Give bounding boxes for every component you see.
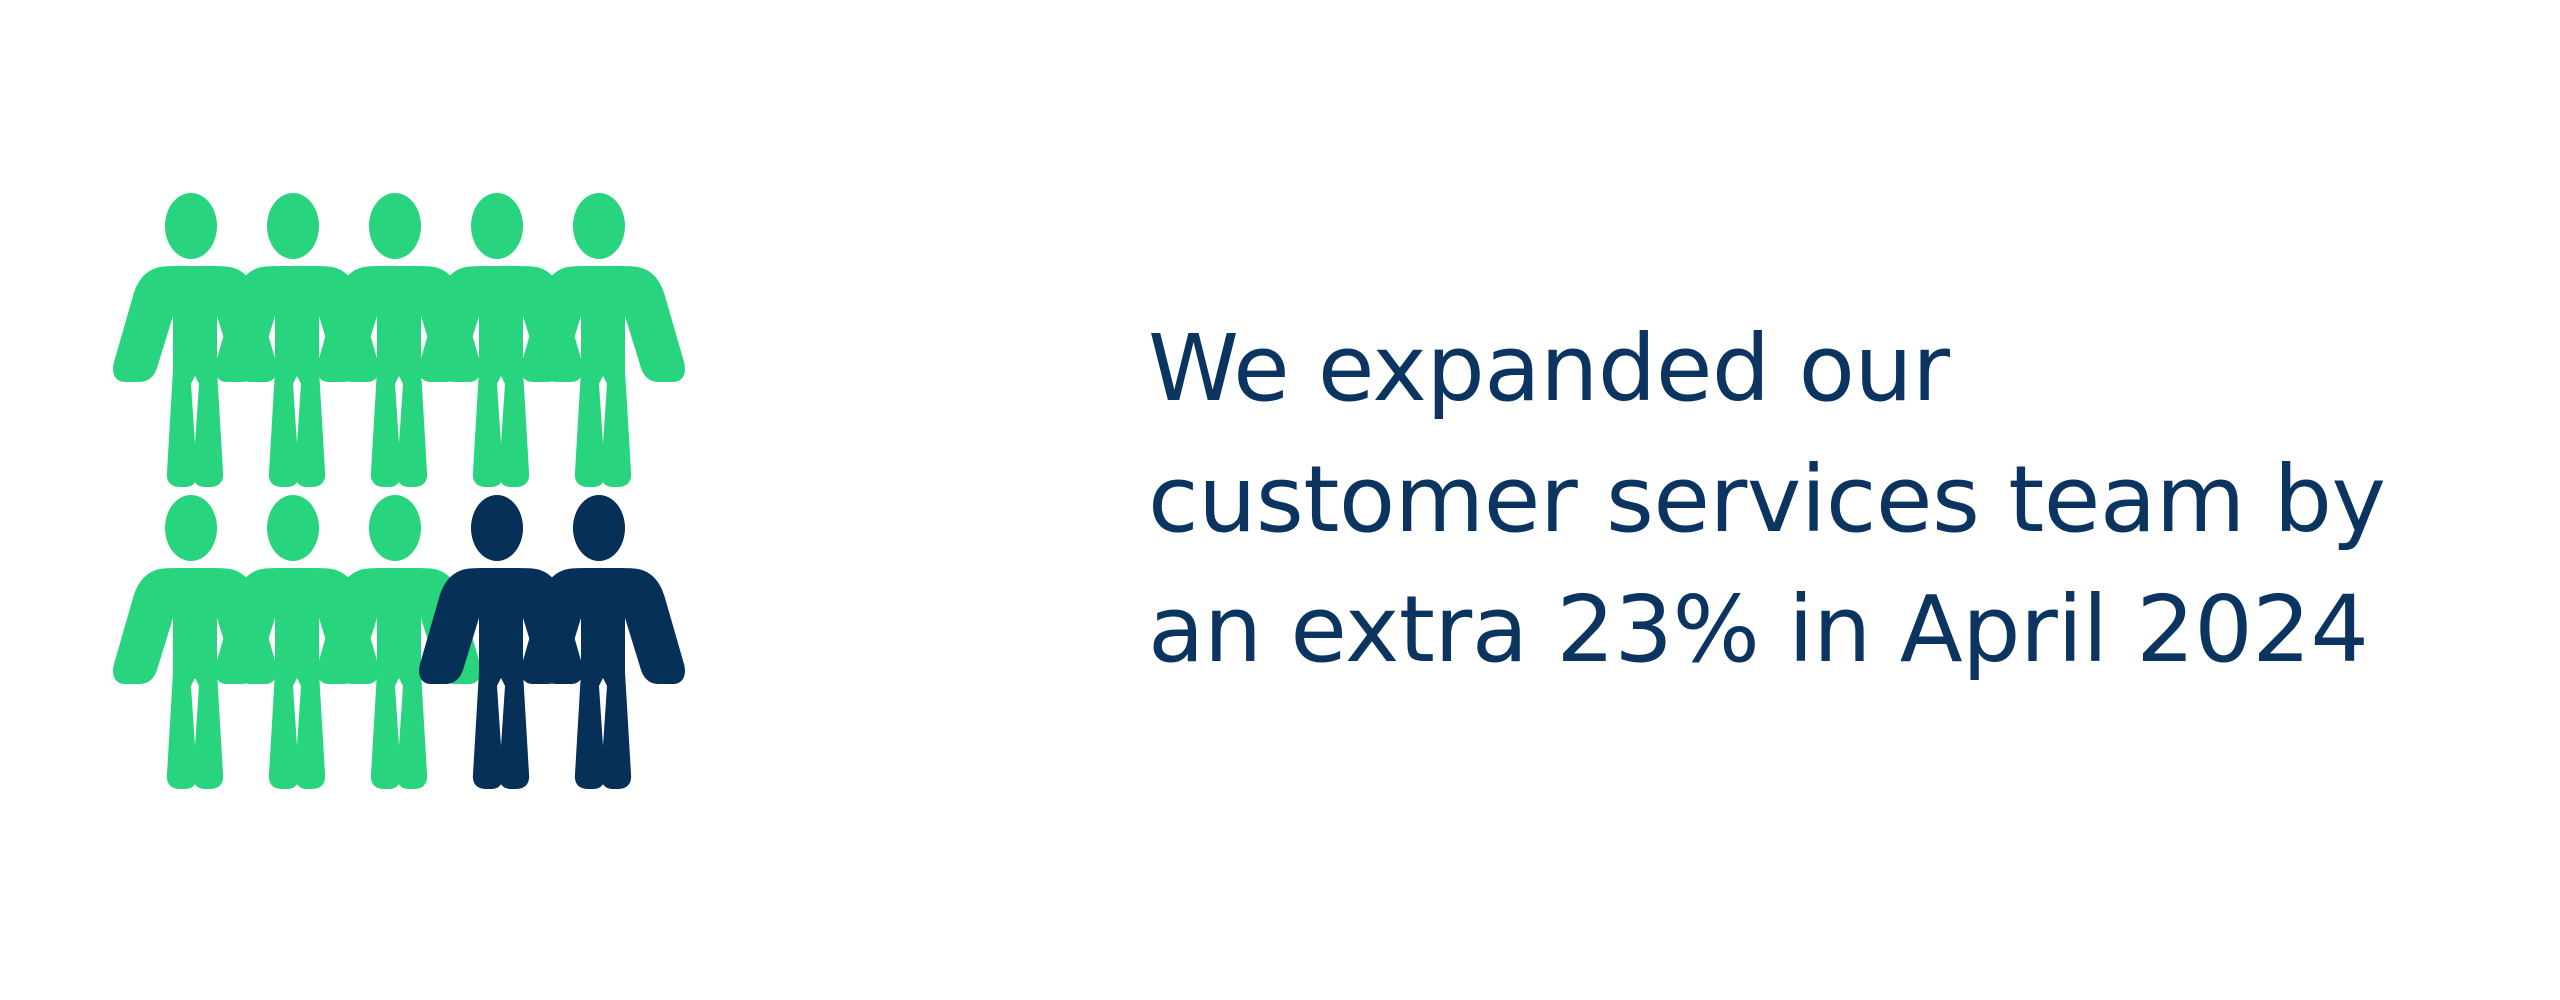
person-head: [573, 495, 625, 561]
person-figure-10: [548, 492, 650, 794]
person-icon: [519, 190, 679, 490]
page-title: We expanded ourcustomer services team by…: [1148, 304, 2385, 696]
person-head: [573, 193, 625, 259]
person-figure-5: [548, 190, 650, 492]
person-head: [369, 193, 421, 259]
pictogram-grid: [140, 190, 650, 794]
person-head: [165, 495, 217, 561]
person-body: [521, 266, 685, 487]
person-head: [471, 495, 523, 561]
pictogram-panel: [140, 190, 700, 830]
headline-panel: We expanded ourcustomer services team by…: [1148, 0, 2528, 1000]
headline-line-2: customer services team by: [1148, 435, 2385, 566]
person-head: [471, 193, 523, 259]
person-head: [165, 193, 217, 259]
headline-line-1: We expanded our: [1148, 304, 2385, 435]
person-head: [267, 495, 319, 561]
person-icon: [519, 492, 679, 792]
person-body: [521, 568, 685, 789]
infographic-root: We expanded ourcustomer services team by…: [0, 0, 2560, 1000]
person-head: [369, 495, 421, 561]
person-head: [267, 193, 319, 259]
headline-line-3: an extra 23% in April 2024: [1148, 565, 2385, 696]
